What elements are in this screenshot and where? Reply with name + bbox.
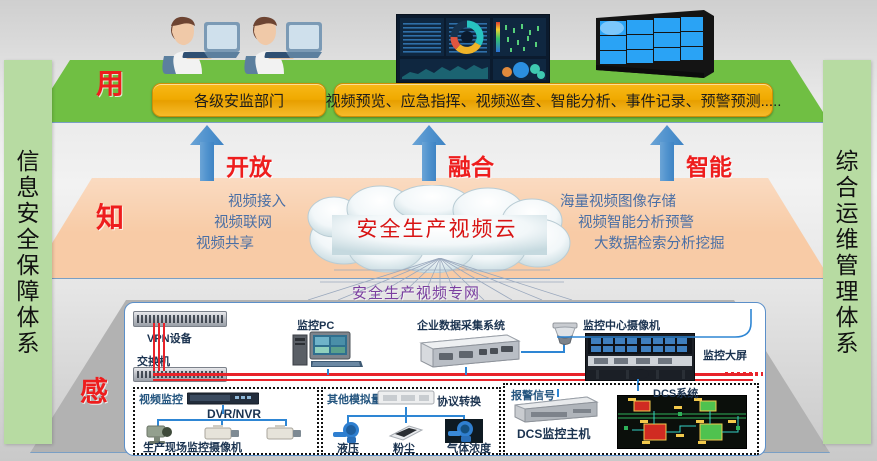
pillar-left-char-4: 保 [17,254,40,277]
cloud-left-item-1: 视频联网 [126,213,286,234]
pillar-information-security: 信 息 安 全 保 障 体 系 [4,60,52,444]
big-screen-label: 监控大屏 [703,347,747,363]
monitor-pc-image [291,329,365,369]
analog-drop-2 [405,415,407,423]
video-wall-image [592,8,718,80]
dust-sensor-image [387,423,425,441]
dcs-host-image [511,395,601,423]
pillar-left-char-3: 全 [17,228,40,251]
field-camera-image-3 [265,425,303,443]
arrow-label-open: 开放 [226,148,272,182]
vpn-device-image [133,311,227,327]
diagram-canvas: 信 息 安 全 保 障 体 系 综 合 运 维 管 理 体 系 用 知 感 各级… [0,0,877,461]
pillar-right-char-5: 理 [836,280,859,303]
link-data-collection [465,367,467,375]
pillar-right-char-7: 系 [836,332,859,355]
operator-illustration-2 [240,12,326,74]
up-arrow-icon-2 [412,125,446,181]
bus-line-vertical-2 [158,323,160,371]
up-arrow-icon-3 [650,125,684,181]
pillar-right-char-3: 维 [836,228,859,251]
infrastructure-panel: VPN设备 交换机 [124,302,766,456]
bus-dotted-right [725,372,763,376]
link-monitor-pc [327,369,329,375]
pillar-left-char-1: 息 [17,176,40,199]
pillar-left-char-0: 信 [17,150,40,173]
dcs-host-label: DCS监控主机 [517,425,590,442]
monitoring-console-image [585,333,695,381]
dvr-tree-trunk [222,405,224,414]
cloud-title: 安全生产视频云 [292,213,582,243]
protocol-converter-image [377,389,435,407]
arrow-label-intelligent: 智能 [686,148,732,182]
data-collection-label: 企业数据采集系统 [417,317,505,333]
layer-label-use: 用 [96,62,124,102]
gas-label: 气体浓度 [447,440,491,456]
dcs-host-link-up [557,389,559,397]
data-collection-server-image [415,331,521,369]
cloud-left-item-2: 视频共享 [126,234,286,255]
hydraulic-label: 液压 [337,440,359,456]
pillar-operations-management: 综 合 运 维 管 理 体 系 [823,60,871,444]
analog-trunk [405,407,407,415]
dcs-system-label: DCS系统 [653,385,698,401]
pillar-right-char-4: 管 [836,254,859,277]
group-title-video-monitoring: 视频监控 [139,391,183,407]
protocol-converter-label: 协议转换 [437,393,481,409]
field-camera-label: 生产现场监控摄像机 [143,439,242,455]
analytics-dashboard-image [396,14,550,83]
group-title-analog: 其他模拟量 [327,391,382,407]
monitor-pc-label: 监控PC [297,317,334,333]
pillar-right-char-6: 体 [836,306,859,329]
cloud-capability-list-right: 海量视频图像存储 视频智能分析预警 大数据检索分析挖掘 [560,192,800,255]
arrow-label-fusion: 融合 [448,148,494,182]
link-collector-to-camera [521,351,565,353]
pillar-left-char-7: 系 [17,332,40,355]
dust-label: 粉尘 [393,440,415,456]
pillar-left-char-5: 障 [17,280,40,303]
capsule-functions[interactable]: 视频预览、应急指挥、视频巡查、智能分析、事件记录、预警预测..... [334,83,773,117]
layer-label-know: 知 [96,196,124,236]
cloud-right-item-0: 海量视频图像存储 [560,192,800,213]
cloud-capability-list-left: 视频接入 视频联网 视频共享 [126,192,286,255]
pillar-right-char-0: 综 [836,150,859,173]
pillar-left-char-6: 体 [17,306,40,329]
cloud-left-item-0: 视频接入 [126,192,286,213]
dcs-system-image [617,395,747,449]
pillar-right-char-1: 合 [836,176,859,199]
pillar-left-char-2: 安 [17,202,40,225]
panel-right-curve [555,309,755,339]
cloud-right-item-1: 视频智能分析预警 [560,213,800,234]
dvr-nvr-image [187,391,259,405]
capsule-department[interactable]: 各级安监部门 [152,83,326,117]
operator-illustration-1 [158,12,244,74]
layer-label-sense: 感 [80,370,108,410]
bus-line-vertical-1 [153,323,155,371]
cloud-right-item-2: 大数据检索分析挖掘 [560,234,800,255]
pillar-right-char-2: 运 [836,202,859,225]
up-arrow-icon-1 [190,125,224,181]
bus-line-vertical-3 [163,323,165,371]
private-network-label: 安全生产视频专网 [352,282,480,303]
